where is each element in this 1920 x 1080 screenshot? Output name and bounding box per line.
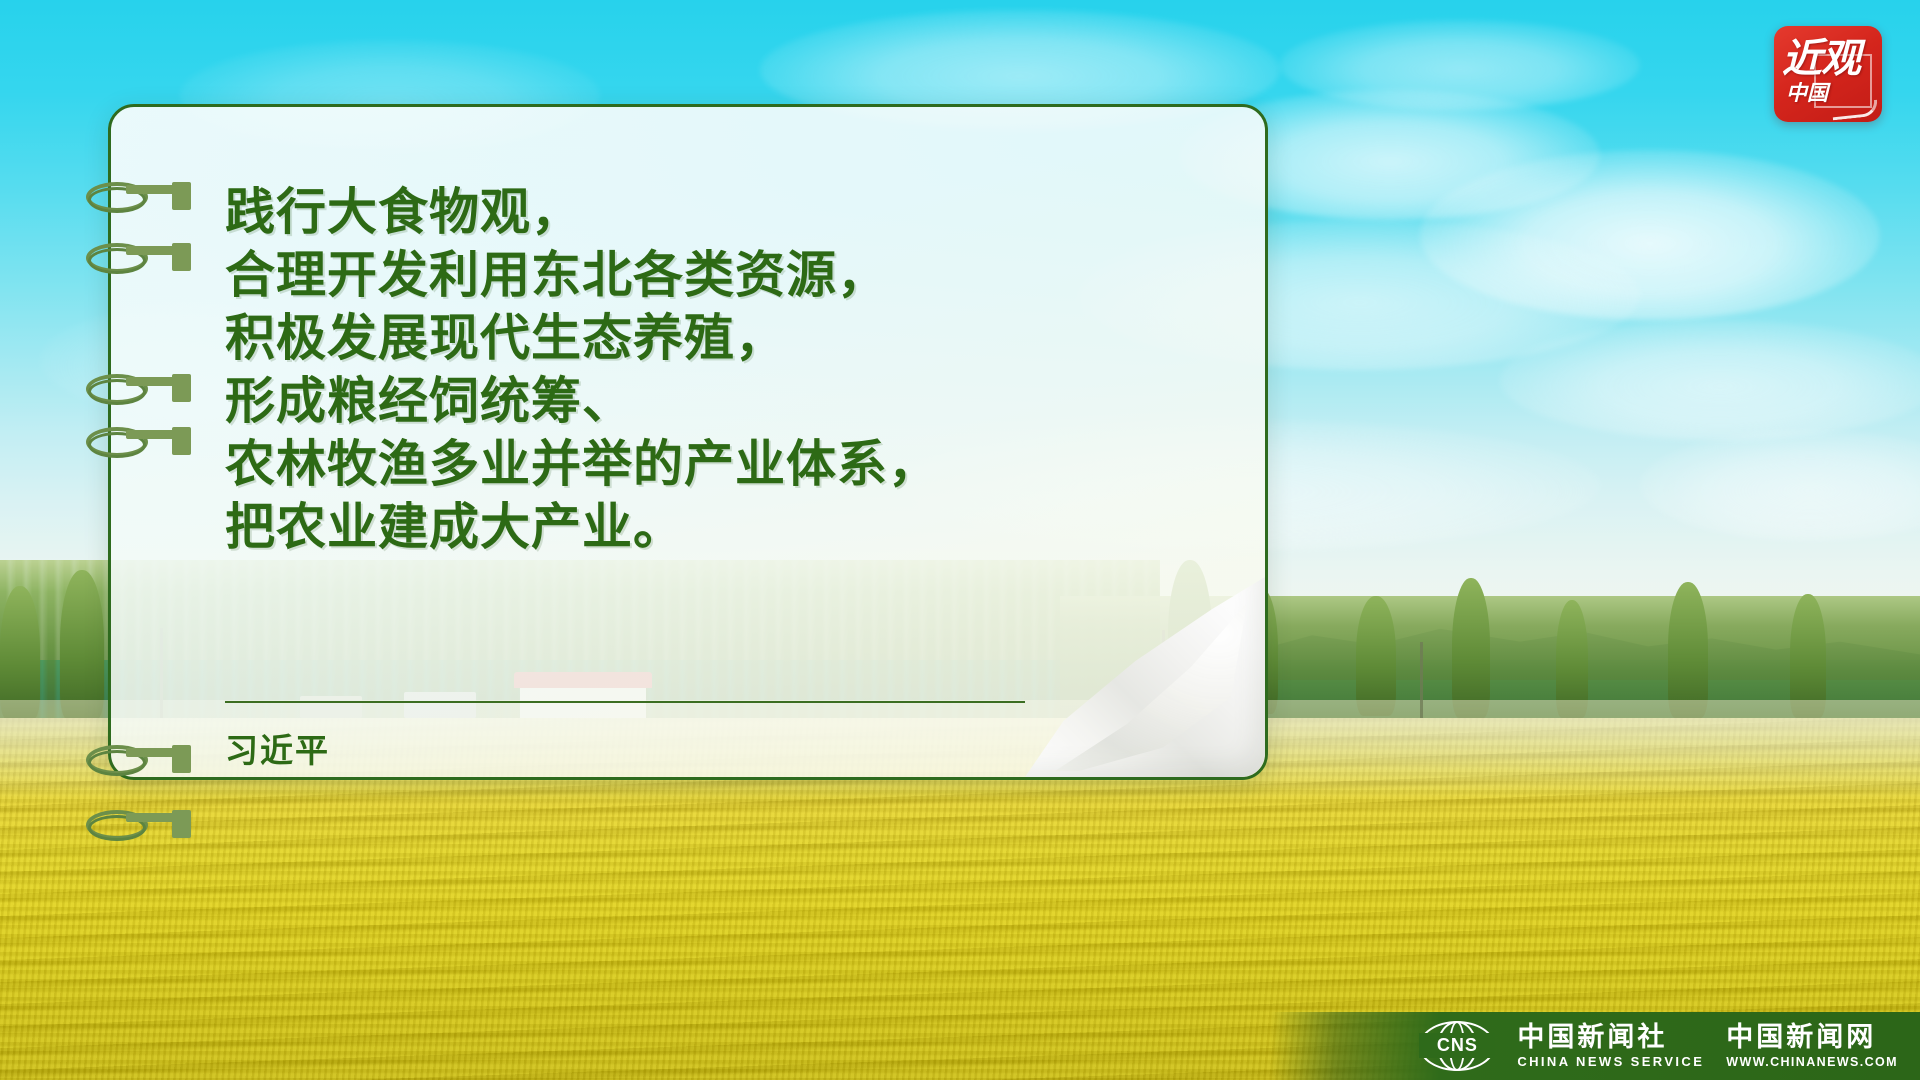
quote-card-inner: 践行大食物观， 合理开发利用东北各类资源， 积极发展现代生态养殖， 形成粮经饲统… [111, 107, 1265, 777]
binding-ring [86, 745, 172, 775]
binding-ring [86, 810, 172, 840]
logo-secondary-text: 中国 [1786, 82, 1828, 106]
tree [1452, 578, 1490, 718]
speaker-name: 习近平 [225, 729, 760, 773]
binding-ring-tab [172, 243, 191, 271]
divider-rule [225, 701, 1025, 703]
jinguan-zhongguo-logo: 近观 中国 [1774, 26, 1882, 122]
binding-ring [86, 427, 172, 457]
headline-line-2: 合理开发利用东北各类资源， [225, 244, 1201, 307]
site-name-cn: 中国新闻网 [1726, 1022, 1898, 1053]
occasion-text: 主持召开新时代推动东北全面振兴座谈会并发表重要讲话 [225, 773, 760, 780]
agency-name-en: CHINA NEWS SERVICE [1517, 1053, 1704, 1071]
cns-globe-icon: CNS [1419, 1021, 1495, 1071]
headline-line-3: 积极发展现代生态养殖， [225, 307, 1201, 370]
headline-line-6: 把农业建成大产业。 [225, 496, 1201, 559]
quote-card: 践行大食物观， 合理开发利用东北各类资源， 积极发展现代生态养殖， 形成粮经饲统… [108, 104, 1268, 780]
binding-ring-tab [172, 745, 191, 773]
agency-name-cn: 中国新闻社 [1517, 1022, 1704, 1053]
cloud [1500, 320, 1920, 440]
attribution-block: 习近平 主持召开新时代推动东北全面振兴座谈会并发表重要讲话 2023年9月7日 [225, 729, 760, 780]
headline-line-1: 践行大食物观， [225, 181, 1201, 244]
binding-ring-tab [172, 810, 191, 838]
binding-ring [86, 243, 172, 273]
footer-brand-bar: CNS 中国新闻社 CHINA NEWS SERVICE 中国新闻网 WWW.C… [1270, 1012, 1920, 1080]
logo-primary-text: 近观 [1782, 38, 1860, 80]
headline-line-4: 形成粮经饲统筹、 [225, 370, 1201, 433]
website-brand: 中国新闻网 WWW.CHINANEWS.COM [1726, 1022, 1898, 1071]
cloud [1280, 20, 1640, 110]
binding-ring-tab [172, 427, 191, 455]
headline-quote: 践行大食物观， 合理开发利用东北各类资源， 积极发展现代生态养殖， 形成粮经饲统… [225, 181, 1201, 559]
binding-ring [86, 374, 172, 404]
tree [60, 570, 104, 720]
headline-line-5: 农林牧渔多业并举的产业体系， [225, 433, 1201, 496]
binding-ring-tab [172, 182, 191, 210]
agency-brand: 中国新闻社 CHINA NEWS SERVICE [1517, 1022, 1704, 1071]
logo-swoosh-icon [1831, 100, 1878, 121]
utility-pole [1420, 642, 1423, 724]
binding-ring-tab [172, 374, 191, 402]
tree [1668, 582, 1708, 718]
binding-ring [86, 182, 172, 212]
cns-mark-text: CNS [1419, 1033, 1495, 1058]
tree [1356, 596, 1396, 716]
site-url-en: WWW.CHINANEWS.COM [1726, 1053, 1898, 1071]
